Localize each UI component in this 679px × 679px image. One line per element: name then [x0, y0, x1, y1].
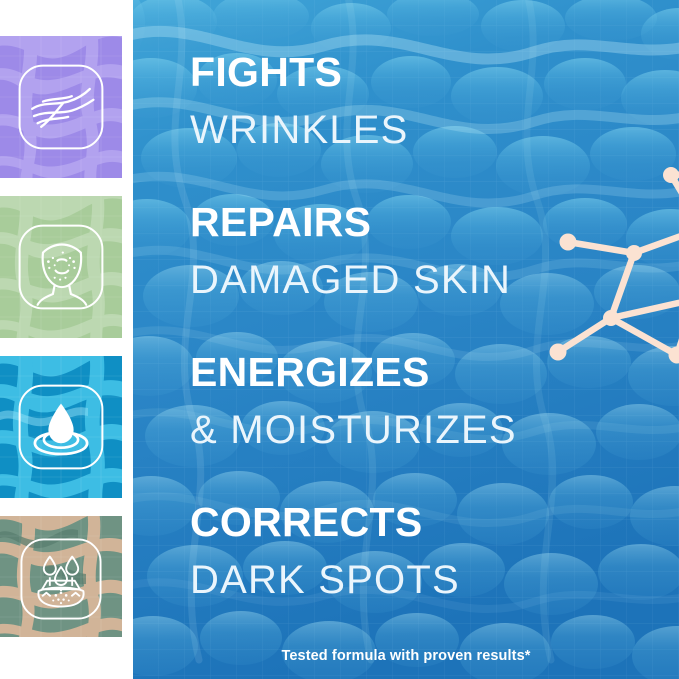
benefit-headline: FIGHTS: [190, 52, 660, 93]
face-skin-icon: [16, 222, 106, 312]
benefit-subline: WRINKLES: [190, 110, 660, 150]
droplets-on-skin-icon: [18, 536, 104, 622]
benefit-item-fights-wrinkles: FIGHTS WRINKLES: [190, 52, 660, 150]
benefit-subline: DARK SPOTS: [190, 560, 660, 600]
benefit-item-energizes-moisturizes: ENERGIZES & MOISTURIZES: [190, 352, 660, 450]
benefit-headline: CORRECTS: [190, 502, 660, 543]
main-panel: FIGHTS WRINKLES REPAIRS DAMAGED SKIN ENE…: [133, 0, 679, 679]
product-benefits-infographic: FIGHTS WRINKLES REPAIRS DAMAGED SKIN ENE…: [0, 0, 679, 679]
benefit-item-corrects-dark-spots: CORRECTS DARK SPOTS: [190, 502, 660, 600]
sidebar-tile-dark-spots[interactable]: [0, 516, 122, 637]
wrinkle-lines-icon: [16, 62, 106, 152]
benefit-item-repairs-damaged-skin: REPAIRS DAMAGED SKIN: [190, 202, 660, 300]
benefit-icon-sidebar: [0, 0, 122, 679]
benefit-headline: ENERGIZES: [190, 352, 660, 393]
footnote-text: Tested formula with proven results*: [133, 648, 679, 664]
benefit-headline: REPAIRS: [190, 202, 660, 243]
benefit-subline: & MOISTURIZES: [190, 410, 660, 450]
benefit-subline: DAMAGED SKIN: [190, 260, 660, 300]
sidebar-tile-moisture[interactable]: [0, 356, 122, 498]
water-droplet-ripple-icon: [16, 382, 106, 472]
benefits-list: FIGHTS WRINKLES REPAIRS DAMAGED SKIN ENE…: [190, 0, 660, 679]
sidebar-tile-damaged-skin[interactable]: [0, 196, 122, 338]
sidebar-tile-wrinkles[interactable]: [0, 36, 122, 178]
